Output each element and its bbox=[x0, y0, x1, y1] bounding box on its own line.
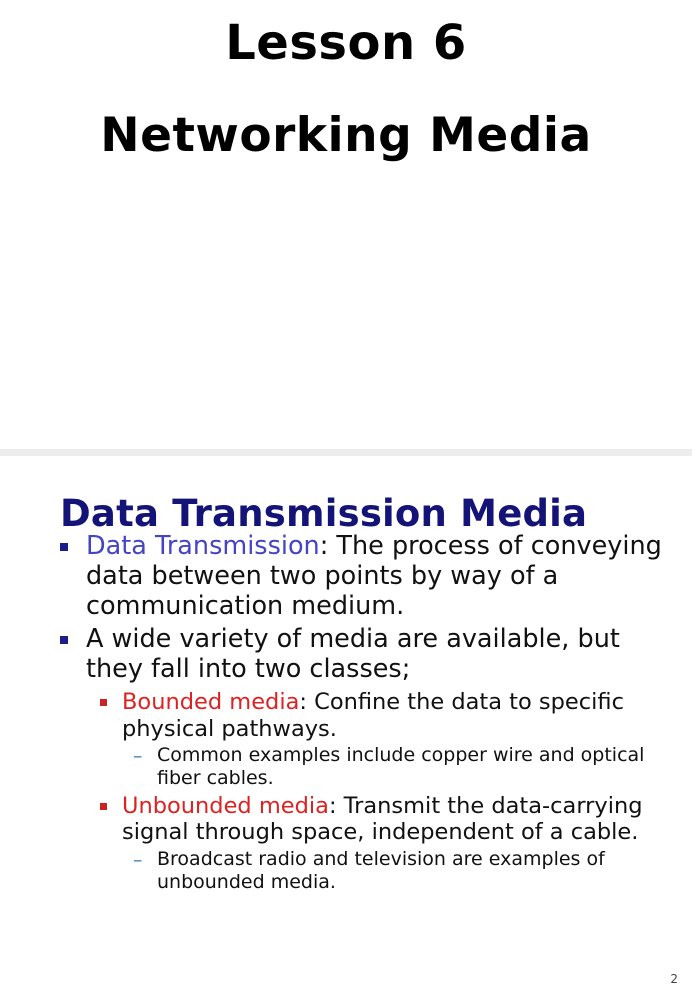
square-bullet-icon bbox=[100, 793, 122, 810]
list-item: – Broadcast radio and television are exa… bbox=[0, 848, 692, 894]
title-block: Lesson 6 Networking Media bbox=[0, 18, 692, 161]
list-item-body: A wide variety of media are available, b… bbox=[86, 624, 620, 684]
list-item-text: Bounded media: Confine the data to speci… bbox=[122, 689, 674, 742]
page-title: Data Transmission Media bbox=[60, 495, 587, 534]
square-bullet-icon bbox=[60, 625, 86, 644]
list-item: Data Transmission: The process of convey… bbox=[0, 532, 692, 621]
list-item-text: A wide variety of media are available, b… bbox=[86, 625, 674, 685]
handout-page: Lesson 6 Networking Media Data Transmiss… bbox=[0, 0, 692, 994]
slide-content: Data Transmission Media Data Transmissio… bbox=[0, 456, 692, 994]
square-bullet-icon bbox=[60, 532, 86, 551]
list-item-body: Common examples include copper wire and … bbox=[157, 744, 652, 790]
slide-title: Lesson 6 Networking Media bbox=[0, 0, 692, 449]
list-item: – Common examples include copper wire an… bbox=[0, 744, 692, 790]
list-item: Bounded media: Confine the data to speci… bbox=[0, 689, 692, 742]
list-item: Unbounded media: Transmit the data-carry… bbox=[0, 793, 692, 846]
square-bullet-icon bbox=[100, 689, 122, 706]
dash-bullet-icon: – bbox=[133, 744, 157, 768]
lesson-title-line-1: Lesson 6 bbox=[0, 18, 692, 69]
bullet-list: Data Transmission: The process of convey… bbox=[0, 532, 692, 896]
dash-bullet-icon: – bbox=[133, 848, 157, 872]
list-item-body: Broadcast radio and television are examp… bbox=[157, 848, 652, 894]
slide-divider bbox=[0, 449, 692, 456]
list-item-text: Data Transmission: The process of convey… bbox=[86, 532, 674, 621]
lead-in-term: Unbounded media bbox=[122, 793, 329, 819]
page-number: 2 bbox=[670, 972, 678, 986]
list-item-text: Unbounded media: Transmit the data-carry… bbox=[122, 793, 674, 846]
lead-in-term: Bounded media bbox=[122, 689, 299, 715]
lesson-title-line-2: Networking Media bbox=[0, 111, 692, 161]
list-item: A wide variety of media are available, b… bbox=[0, 625, 692, 685]
lead-in-term: Data Transmission bbox=[86, 531, 320, 561]
